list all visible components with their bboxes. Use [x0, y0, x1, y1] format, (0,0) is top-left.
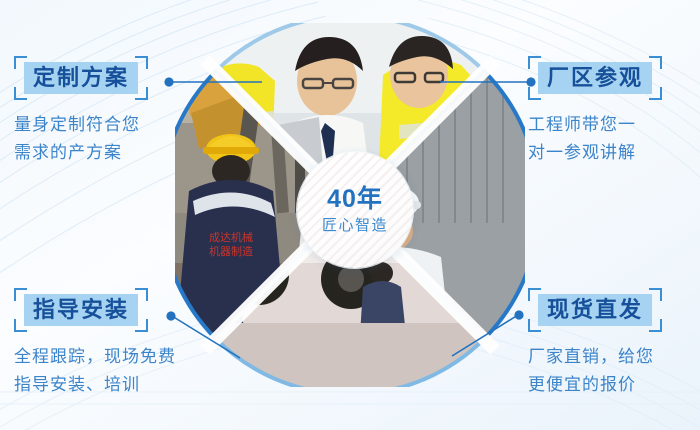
bracket-corner-br-icon — [649, 319, 662, 332]
feature-description: 全程跟踪，现场免费 指导安装、培训 — [14, 343, 176, 398]
center-badge: 40年 匠心智造 — [297, 152, 413, 268]
bracket-corner-tr-icon — [649, 56, 662, 69]
feature-install-guidance[interactable]: 指导安装 全程跟踪，现场免费 指导安装、培训 — [14, 288, 176, 398]
bracket-corner-tr-icon — [135, 288, 148, 301]
feature-description: 厂家直销，给您 更便宜的报价 — [528, 343, 662, 398]
feature-stock-direct-ship[interactable]: 现货直发 厂家直销，给您 更便宜的报价 — [528, 288, 662, 398]
feature-title-wrap: 指导安装 — [14, 288, 148, 332]
feature-custom-solution[interactable]: 定制方案 量身定制符合您 需求的产方案 — [14, 56, 148, 166]
bracket-corner-tl-icon — [14, 56, 27, 69]
promo-banner: 成达机械 机器制造 — [0, 0, 700, 430]
feature-title-wrap: 现货直发 — [528, 288, 662, 332]
feature-desc-line-1: 厂家直销，给您 — [528, 343, 662, 371]
feature-factory-visit[interactable]: 厂区参观 工程师带您一 对一参观讲解 — [528, 56, 662, 166]
bracket-corner-bl-icon — [14, 319, 27, 332]
feature-desc-line-2: 更便宜的报价 — [528, 371, 662, 399]
feature-desc-line-1: 工程师带您一 — [528, 111, 662, 139]
feature-title-wrap: 定制方案 — [14, 56, 148, 100]
bracket-corner-tl-icon — [14, 288, 27, 301]
feature-title: 定制方案 — [24, 62, 138, 94]
bracket-corner-bl-icon — [528, 319, 541, 332]
bracket-corner-tl-icon — [528, 56, 541, 69]
feature-title: 现货直发 — [538, 294, 652, 326]
feature-desc-line-2: 需求的产方案 — [14, 139, 148, 167]
feature-title-wrap: 厂区参观 — [528, 56, 662, 100]
connector-dot-top-left — [164, 77, 173, 86]
bracket-corner-br-icon — [135, 87, 148, 100]
feature-desc-line-1: 量身定制符合您 — [14, 111, 148, 139]
feature-description: 量身定制符合您 需求的产方案 — [14, 111, 148, 166]
feature-title: 厂区参观 — [538, 62, 652, 94]
feature-desc-line-2: 对一参观讲解 — [528, 139, 662, 167]
bracket-corner-bl-icon — [14, 87, 27, 100]
feature-description: 工程师带您一 对一参观讲解 — [528, 111, 662, 166]
bracket-corner-br-icon — [135, 319, 148, 332]
center-badge-headline: 40年 — [327, 187, 383, 212]
bracket-corner-tr-icon — [135, 56, 148, 69]
center-badge-subline: 匠心智造 — [322, 218, 388, 233]
bracket-corner-br-icon — [649, 87, 662, 100]
feature-desc-line-2: 指导安装、培训 — [14, 371, 176, 399]
bracket-corner-tr-icon — [649, 288, 662, 301]
feature-title: 指导安装 — [24, 294, 138, 326]
bracket-corner-bl-icon — [528, 87, 541, 100]
bracket-corner-tl-icon — [528, 288, 541, 301]
feature-desc-line-1: 全程跟踪，现场免费 — [14, 343, 176, 371]
